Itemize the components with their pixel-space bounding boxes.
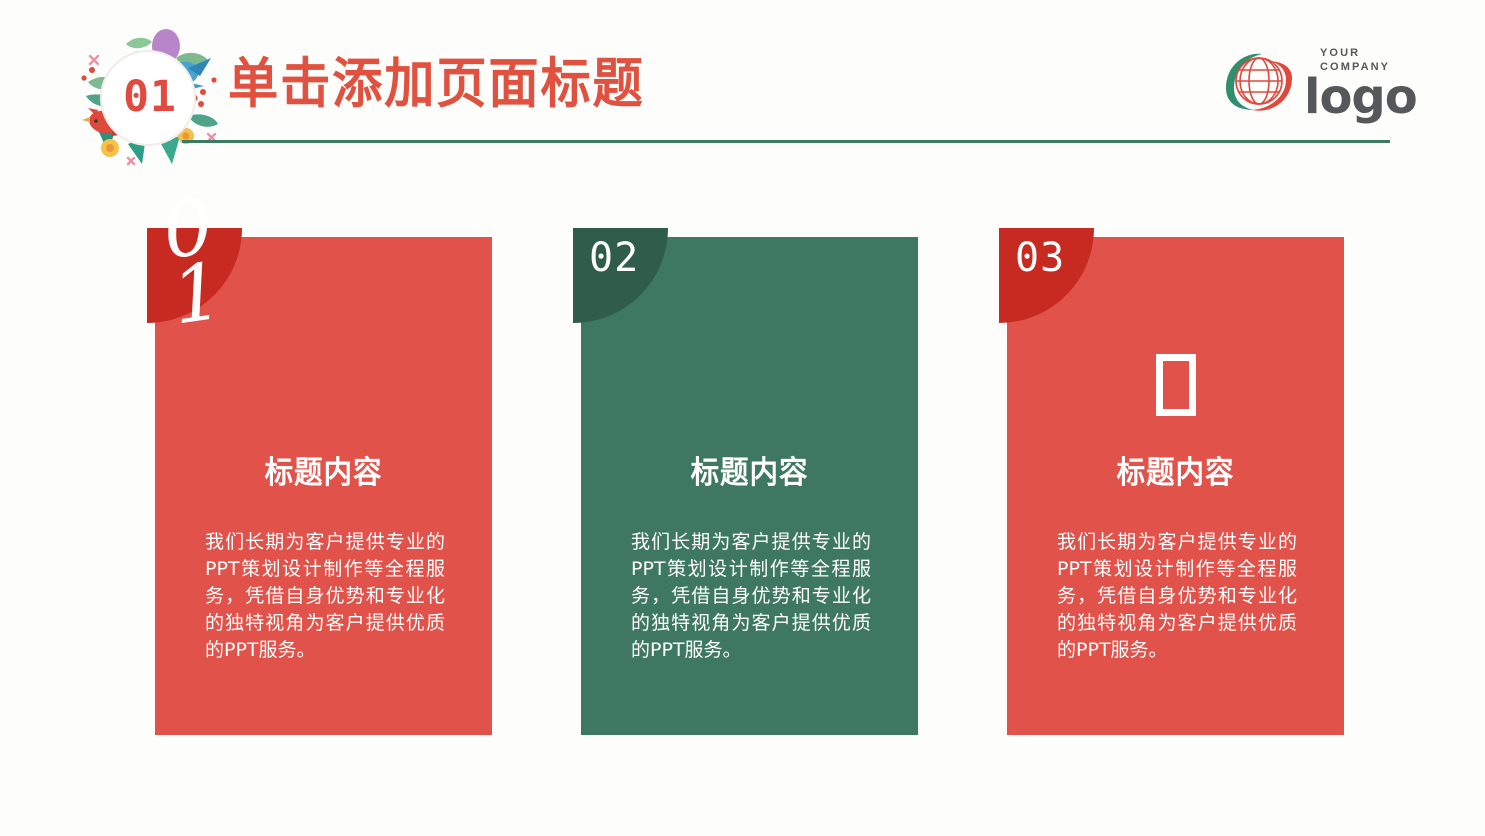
floral-wreath-icon: 01 [68, 24, 230, 170]
slide-canvas: 01 单击添加页面标题 YOUR COMPANY logo [0, 0, 1485, 836]
missing-glyph-tofu-icon [1156, 354, 1196, 416]
card-icon-1 [155, 337, 492, 433]
content-card-2[interactable]: 02 标题内容 我们长期为客户提供专业的PPT策划设计制作等全程服务，凭借自身优… [581, 237, 918, 735]
card-body-1: 我们长期为客户提供专业的PPT策划设计制作等全程服务，凭借自身优势和专业化的独特… [205, 529, 445, 664]
card-number-badge-3: 03 [999, 228, 1094, 323]
company-logo: YOUR COMPANY logo [1222, 42, 1407, 122]
section-number: 01 [69, 24, 231, 170]
card-body-3: 我们长期为客户提供专业的PPT策划设计制作等全程服务，凭借自身优势和专业化的独特… [1057, 529, 1297, 664]
page-title: 单击添加页面标题 [228, 52, 645, 116]
card-title-2: 标题内容 [594, 447, 904, 492]
logo-wordmark: logo [1304, 72, 1409, 122]
title-divider [182, 140, 1390, 143]
card-number-badge-1: 01 [147, 228, 242, 323]
card-body-2: 我们长期为客户提供专业的PPT策划设计制作等全程服务，凭借自身优势和专业化的独特… [631, 529, 871, 664]
card-number-3: 03 [1015, 236, 1065, 280]
content-card-3[interactable]: 03 标题内容 我们长期为客户提供专业的PPT策划设计制作等全程服务，凭借自身优… [1007, 237, 1344, 735]
slide-header: 01 单击添加页面标题 YOUR COMPANY logo [0, 0, 1485, 180]
content-card-1[interactable]: 01 标题内容 我们长期为客户提供专业的PPT策划设计制作等全程服务，凭借自身优… [155, 237, 492, 735]
card-number-2: 02 [589, 236, 639, 280]
card-title-3: 标题内容 [1020, 447, 1330, 492]
card-title-1: 标题内容 [168, 447, 478, 492]
card-icon-3 [1007, 337, 1344, 433]
card-number-1: 01 [159, 194, 217, 330]
card-number-badge-2: 02 [573, 228, 668, 323]
globe-swoosh-icon [1222, 48, 1296, 116]
card-icon-2 [581, 337, 918, 433]
